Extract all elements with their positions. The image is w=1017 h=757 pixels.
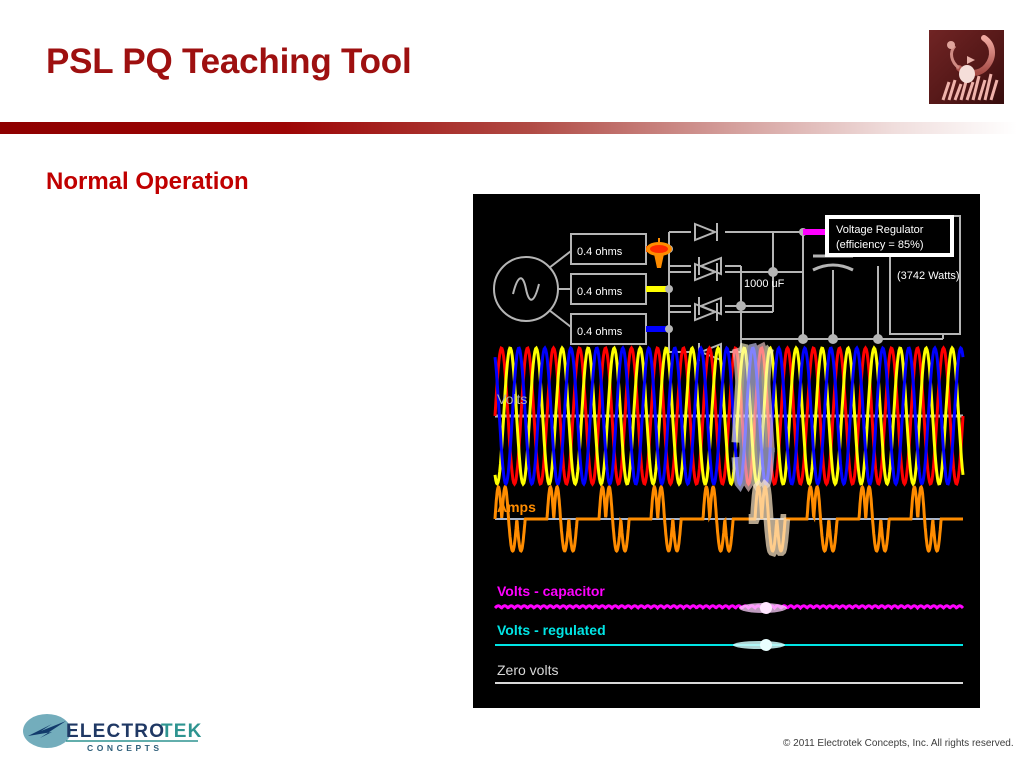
slide: PSL PQ Teaching Tool [0, 0, 1017, 755]
capacitor-cursor-dot [760, 602, 772, 614]
volts-capacitor-trace [495, 606, 963, 608]
capacitor-label: 1000 uF [744, 278, 785, 290]
volts-cursor-highlight [736, 348, 770, 484]
load-label: (3742 Watts) [897, 270, 960, 282]
header-divider-bar [0, 122, 1017, 134]
volts-capacitor-label: Volts - capacitor [497, 583, 605, 599]
section-title: Normal Operation [46, 168, 249, 196]
regulator-line-2: (efficiency = 85%) [836, 239, 924, 251]
footer-logo: ELECTRO TEK C O N C E P T S [22, 712, 202, 752]
resistor-label-b: 0.4 ohms [577, 286, 623, 298]
volts-regulated-label: Volts - regulated [497, 622, 606, 638]
footer-logo-word-2: TEK [161, 721, 202, 742]
copyright-text: © 2011 Electrotek Concepts, Inc. All rig… [783, 738, 1014, 749]
page-title: PSL PQ Teaching Tool [46, 42, 411, 82]
volts-label: Volts [497, 391, 527, 407]
regulated-cursor-highlight [733, 641, 785, 649]
resistor-label-c: 0.4 ohms [577, 326, 623, 338]
resistor-label-a: 0.4 ohms [577, 246, 623, 258]
simulation-panel[interactable]: Voltage Regulator (efficiency = 85%) 0.4… [473, 194, 980, 708]
regulator-line-1: Voltage Regulator [836, 224, 924, 236]
amps-label: Amps [497, 499, 536, 515]
footer-logo-word-1: ELECTRO [66, 721, 165, 742]
header-logo-image [929, 30, 1004, 104]
zero-volts-label: Zero volts [497, 662, 558, 678]
footer-logo-tagline: C O N C E P T S [87, 743, 160, 752]
regulated-cursor-dot [760, 639, 772, 651]
